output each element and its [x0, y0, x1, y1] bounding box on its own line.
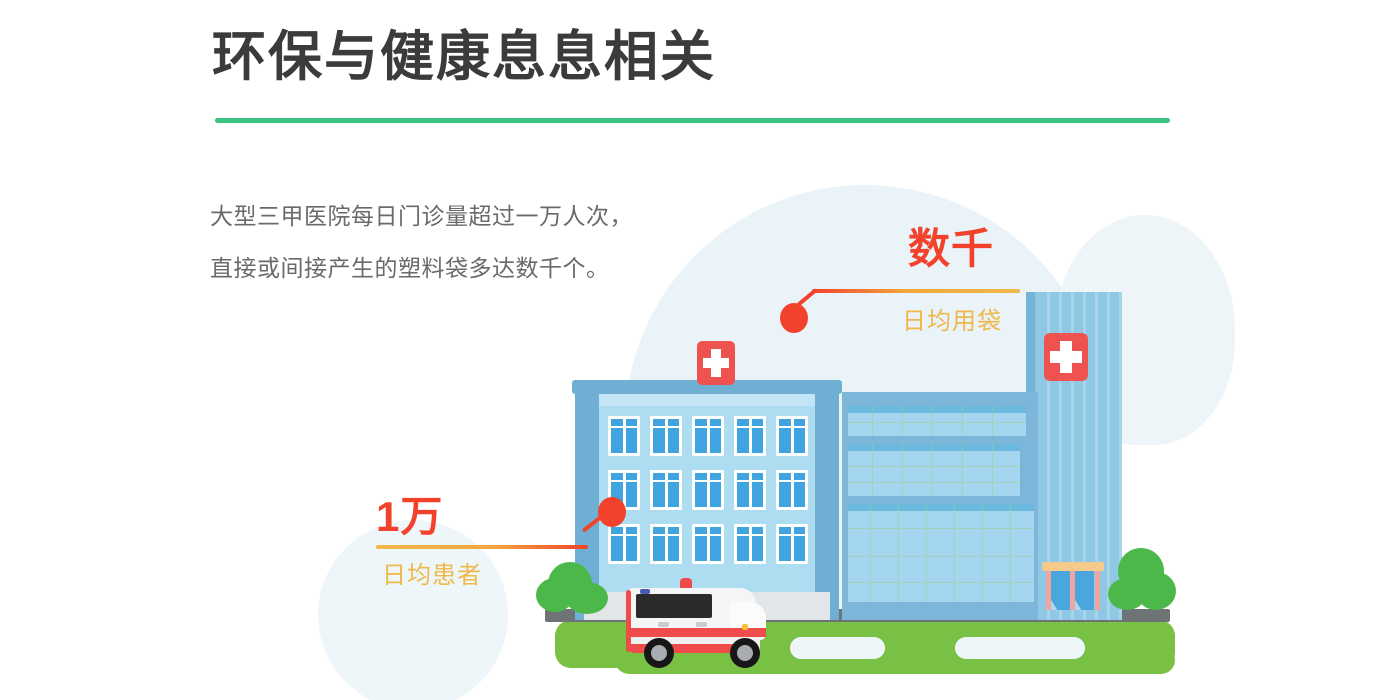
main-pier-right	[815, 392, 839, 620]
callout-daily-bags: 数千 日均用袋	[780, 215, 1110, 355]
ambulance-wheel-front	[730, 638, 760, 668]
window	[608, 416, 640, 456]
glass-band-3	[848, 504, 1034, 602]
callout-daily-patients-value: 1万	[376, 483, 443, 544]
window	[734, 524, 766, 564]
window	[734, 416, 766, 456]
window	[776, 524, 808, 564]
wing-ledge	[842, 392, 1038, 404]
window	[650, 524, 682, 564]
ambulance-amber-light	[742, 624, 748, 630]
body-paragraph: 大型三甲医院每日门诊量超过一万人次，直接或间接产生的塑料袋多达数千个。	[210, 190, 640, 294]
main-facade-top-band	[596, 392, 818, 406]
window	[692, 416, 724, 456]
callout-daily-patients-marker-dot	[598, 497, 626, 527]
window	[776, 416, 808, 456]
callout-daily-bags-label: 日均用袋	[902, 301, 1002, 336]
ambulance-wheel-rear	[644, 638, 674, 668]
slide-canvas: 环保与健康息息相关 大型三甲医院每日门诊量超过一万人次，直接或间接产生的塑料袋多…	[0, 0, 1400, 700]
window	[692, 470, 724, 510]
ambulance-door-handle	[696, 622, 707, 627]
glass-band-2	[848, 444, 1020, 496]
callout-daily-bags-value: 数千	[908, 215, 994, 276]
window	[776, 470, 808, 510]
red-cross-sign-main-icon	[697, 341, 735, 385]
ambulance-window	[636, 594, 712, 618]
entrance-glass-left	[1051, 571, 1070, 610]
entrance-glass-right	[1075, 571, 1094, 610]
walkway-left	[790, 637, 885, 659]
callout-daily-patients: 1万 日均患者	[374, 483, 644, 603]
window	[650, 470, 682, 510]
callout-daily-patients-label: 日均患者	[382, 555, 482, 590]
ambulance-door-handle	[658, 622, 669, 627]
walkway-right	[955, 637, 1085, 659]
callout-daily-patients-rule	[376, 545, 588, 549]
bush-right	[1118, 548, 1164, 594]
window	[692, 524, 724, 564]
middle-glass-wing	[842, 392, 1038, 620]
window	[734, 470, 766, 510]
glass-band-1	[848, 406, 1026, 436]
tower-entrance	[1046, 562, 1100, 610]
window	[650, 416, 682, 456]
title-underline-rule	[215, 118, 1170, 123]
callout-daily-bags-marker-dot	[780, 303, 808, 333]
callout-daily-bags-rule	[812, 289, 1020, 293]
entrance-lintel	[1042, 562, 1104, 571]
page-title: 环保与健康息息相关	[212, 26, 716, 88]
